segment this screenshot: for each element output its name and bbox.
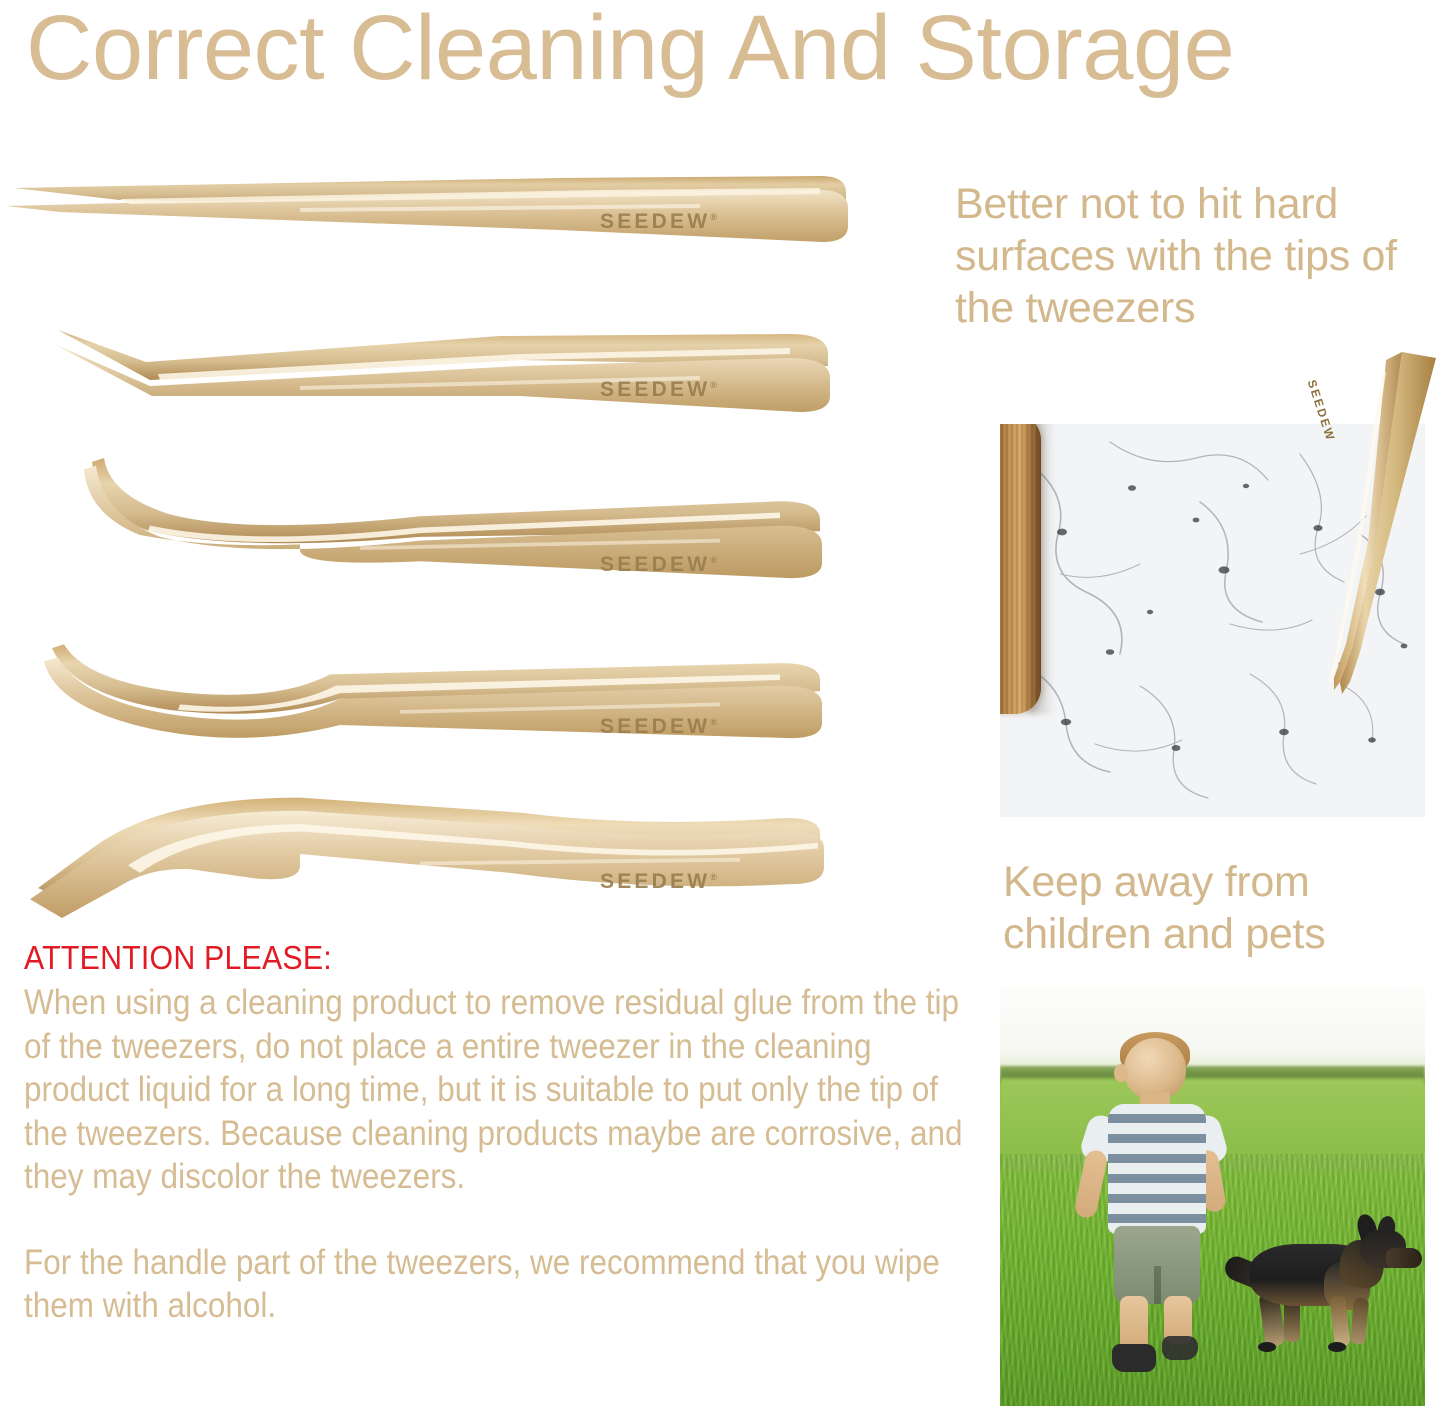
attention-heading: ATTENTION PLEASE: [24, 938, 898, 978]
attention-body: When using a cleaning product to remove … [24, 981, 974, 1328]
brand-engraving: SEEDEW® [600, 715, 717, 739]
attention-paragraph-1: When using a cleaning product to remove … [24, 981, 974, 1199]
dog-paw-front [1328, 1342, 1346, 1352]
toddler [1078, 1038, 1228, 1368]
toddler-head [1124, 1038, 1186, 1100]
page-title: Correct Cleaning And Storage [26, 0, 1436, 106]
tweezer-lineup: SEEDEW® [0, 150, 900, 920]
dog-paw-back [1258, 1342, 1276, 1352]
tweezer-on-marble-photo [1000, 424, 1425, 817]
tweezer-s-curve: SEEDEW® [0, 775, 900, 935]
tweezer-45-degree: SEEDEW® [0, 300, 900, 450]
brand-engraving: SEEDEW® [600, 378, 717, 402]
toddler-shoe-left [1112, 1344, 1156, 1372]
note-keep-away: Keep away from children and pets [1003, 856, 1445, 960]
toddler-shoe-right [1162, 1336, 1198, 1360]
german-shepherd-puppy [1228, 1218, 1418, 1368]
tweezer-boot: SEEDEW® [0, 445, 900, 595]
attention-block: ATTENTION PLEASE: When using a cleaning … [24, 938, 974, 1328]
brand-engraving: SEEDEW® [600, 870, 717, 894]
marble-veining [1000, 424, 1425, 817]
board-shadow [1028, 424, 1054, 714]
tweezer-straight: SEEDEW® [0, 150, 900, 300]
toddler-striped-shirt [1108, 1104, 1206, 1234]
child-and-dog-photo [1000, 986, 1425, 1406]
brand-engraving: SEEDEW® [600, 210, 717, 234]
note-hard-surfaces: Better not to hit hard surfaces with the… [955, 178, 1445, 334]
dog-muzzle [1386, 1248, 1422, 1268]
toddler-arm-left [1073, 1148, 1109, 1219]
toddler-ear [1114, 1064, 1128, 1082]
tweezer-l-curved: SEEDEW® [0, 620, 900, 770]
brand-engraving: SEEDEW® [600, 553, 717, 577]
dog-leg-front-right [1350, 1297, 1369, 1344]
attention-paragraph-2: For the handle part of the tweezers, we … [24, 1241, 974, 1328]
toddler-shorts [1114, 1226, 1200, 1304]
